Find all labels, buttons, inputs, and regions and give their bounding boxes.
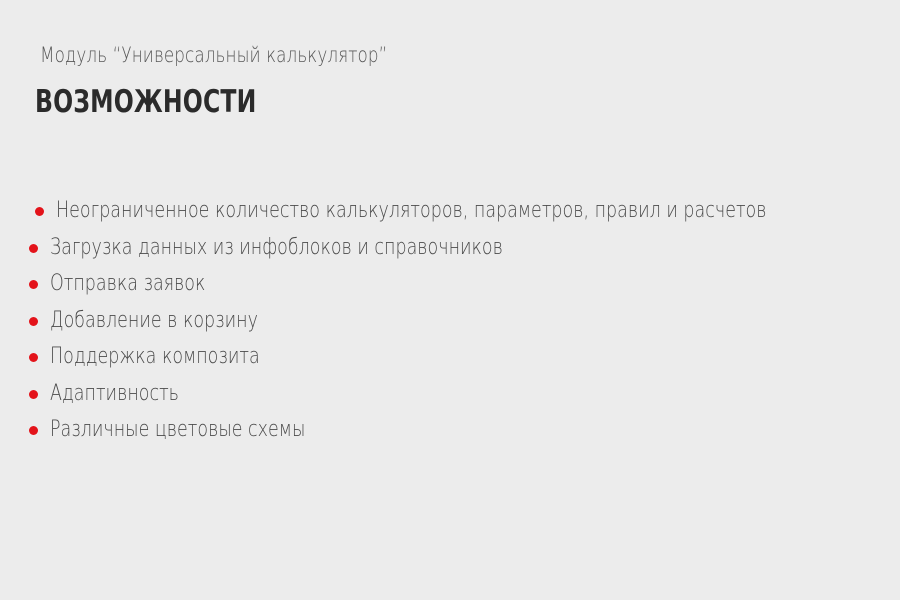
- bullet-dot-icon: [29, 317, 38, 326]
- list-item: Неограниченное количество калькуляторов,…: [0, 198, 900, 235]
- slide-header: Модуль “Универсальный калькулятор” ВОЗМО…: [0, 40, 900, 120]
- bullet-dot-icon: [29, 244, 38, 253]
- list-item: Отправка заявок: [0, 271, 900, 308]
- list-item-label: Загрузка данных из инфоблоков и справочн…: [50, 235, 503, 261]
- list-item-label: Отправка заявок: [50, 271, 205, 297]
- list-item: Поддержка композита: [0, 344, 900, 381]
- bullet-dot-icon: [29, 390, 38, 399]
- slide-subtitle: Модуль “Универсальный калькулятор”: [0, 40, 720, 70]
- bullet-dot-icon: [29, 426, 38, 435]
- list-item: Загрузка данных из инфоблоков и справочн…: [0, 235, 900, 272]
- page-title: ВОЗМОЖНОСТИ: [0, 70, 684, 120]
- list-item-label: Поддержка композита: [50, 344, 260, 370]
- list-item-label: Добавление в корзину: [50, 308, 258, 334]
- list-item: Различные цветовые схемы: [0, 417, 900, 454]
- bullet-dot-icon: [29, 353, 38, 362]
- list-item-label: Различные цветовые схемы: [50, 417, 305, 443]
- presentation-slide: Модуль “Универсальный калькулятор” ВОЗМО…: [0, 0, 900, 600]
- list-item: Добавление в корзину: [0, 308, 900, 345]
- bullet-dot-icon: [35, 207, 44, 216]
- list-item-label: Неограниченное количество калькуляторов,…: [56, 198, 767, 224]
- bullet-dot-icon: [29, 280, 38, 289]
- feature-list: Неограниченное количество калькуляторов,…: [0, 198, 900, 454]
- list-item-label: Адаптивность: [50, 381, 179, 407]
- list-item: Адаптивность: [0, 381, 900, 418]
